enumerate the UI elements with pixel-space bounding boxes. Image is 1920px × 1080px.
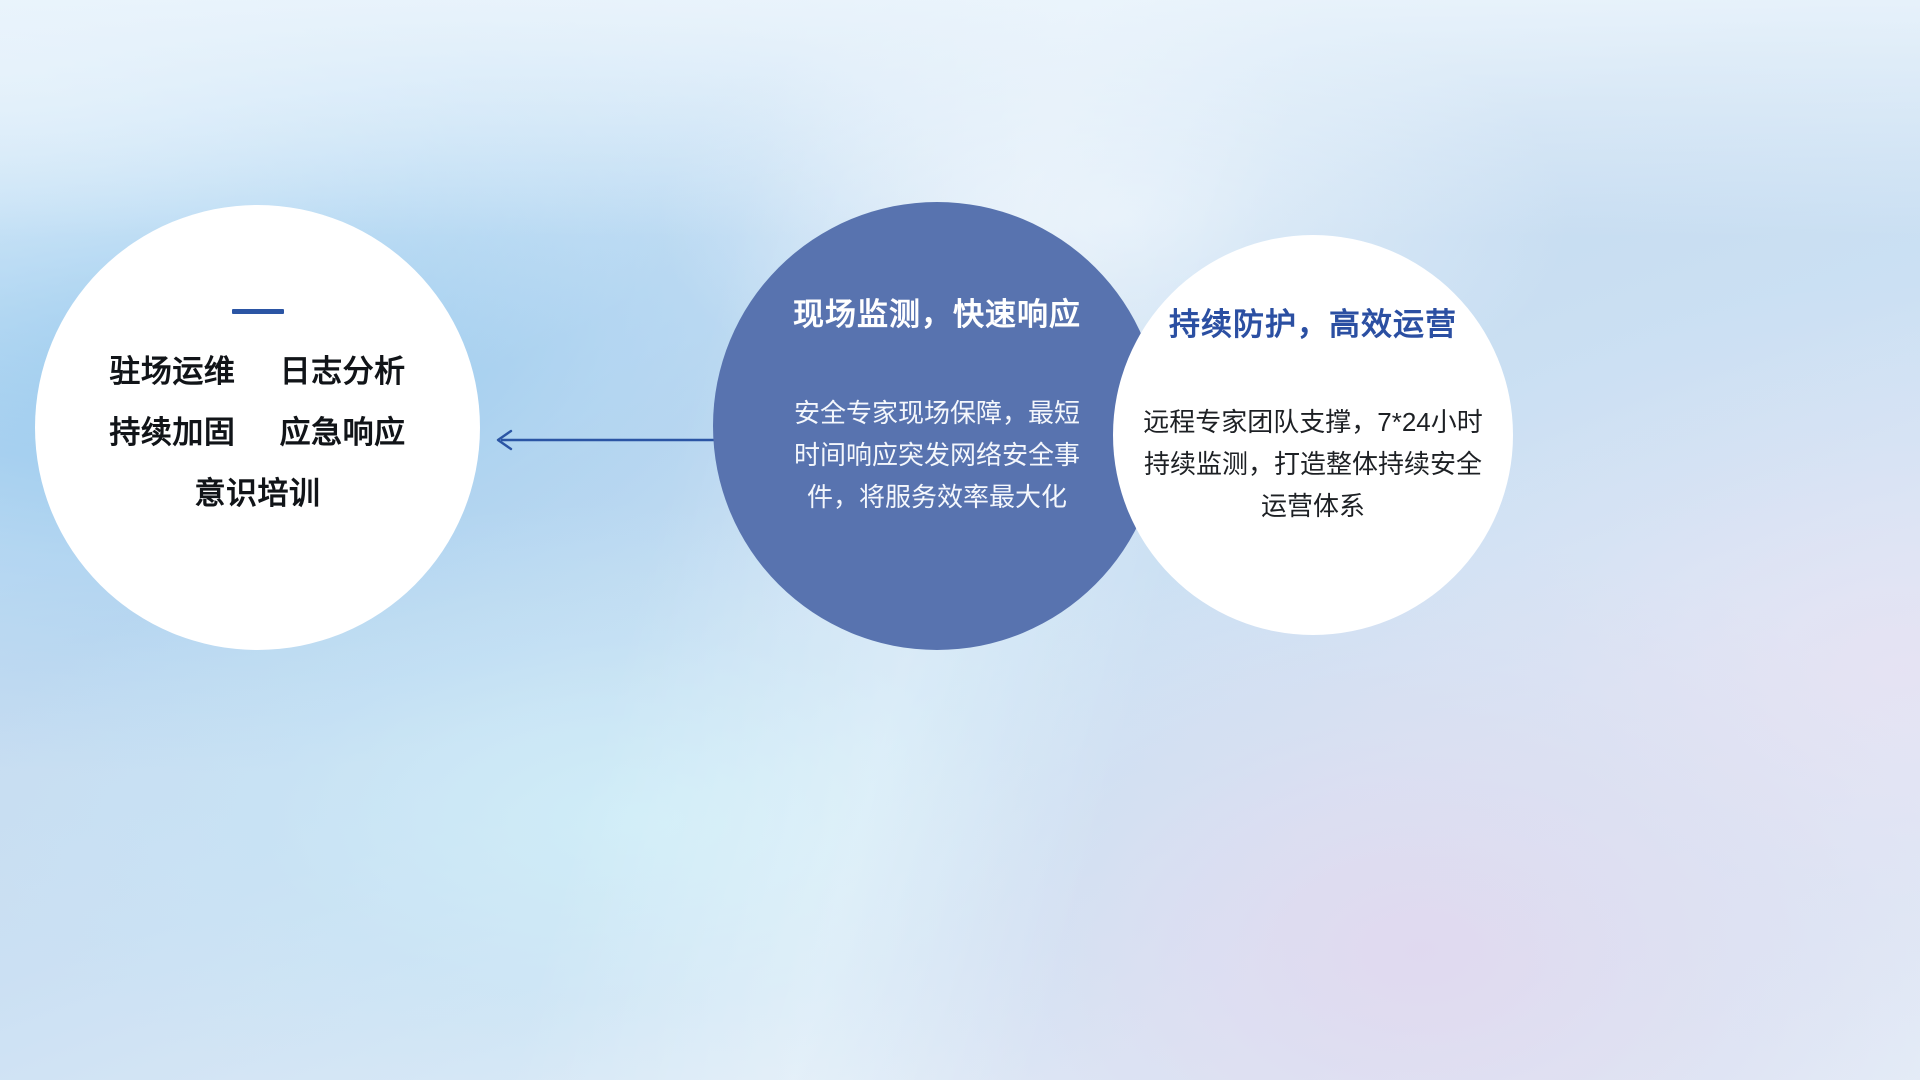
- flow-arrow: [487, 424, 717, 456]
- right-circle-title: 持续防护，高效运营: [1169, 299, 1457, 344]
- center-circle-body: 安全专家现场保障，最短时间响应突发网络安全事件，将服务效率最大化: [787, 392, 1087, 518]
- keyword: 意识培训: [195, 476, 321, 511]
- list-item: 持续加固 应急响应: [35, 417, 480, 448]
- list-item: 驻场运维 日志分析: [35, 356, 480, 387]
- center-circle-node: 现场监测，快速响应 安全专家现场保障，最短时间响应突发网络安全事件，将服务效率最…: [713, 202, 1161, 650]
- left-keyword-list: 驻场运维 日志分析 持续加固 应急响应 意识培训: [35, 356, 480, 509]
- right-circle-body: 远程专家团队支撑，7*24小时持续监测，打造整体持续安全运营体系: [1138, 401, 1488, 527]
- keyword: 驻场运维: [109, 354, 235, 389]
- keyword: 应急响应: [280, 415, 406, 450]
- slide-canvas: 驻场运维 日志分析 持续加固 应急响应 意识培训 现场监测，快速响应 安全专家现…: [0, 0, 1920, 1080]
- keyword: 日志分析: [280, 354, 406, 389]
- left-circle-node: 驻场运维 日志分析 持续加固 应急响应 意识培训: [35, 205, 480, 650]
- keyword: 持续加固: [109, 415, 235, 450]
- divider-dash: [232, 309, 284, 314]
- list-item: 意识培训: [35, 478, 480, 509]
- right-circle-node: 持续防护，高效运营 远程专家团队支撑，7*24小时持续监测，打造整体持续安全运营…: [1113, 235, 1513, 635]
- left-arrow-icon: [487, 424, 717, 456]
- center-circle-title: 现场监测，快速响应: [793, 289, 1081, 334]
